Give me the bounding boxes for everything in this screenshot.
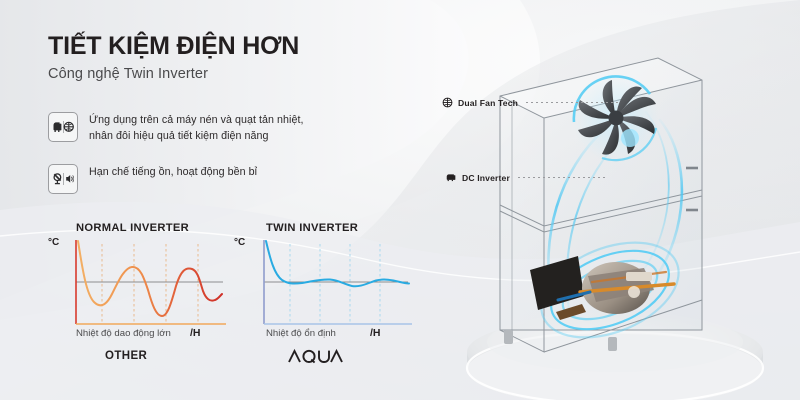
callout-dual-fan-tech[interactable]: Dual Fan Tech — [442, 97, 621, 108]
feature-item-low-noise: Hạn chế tiếng ồn, hoạt động bền bỉ — [48, 164, 257, 194]
chart-series-line — [78, 241, 222, 316]
chart-plot-area — [228, 236, 428, 336]
aqua-logo-mark — [288, 348, 344, 364]
callout-label: DC Inverter — [462, 173, 510, 183]
refrigerator-render — [430, 0, 800, 400]
page-subtitle: Công nghệ Twin Inverter — [48, 66, 208, 82]
feature-text-line-2: nhân đôi hiệu quả tiết kiệm điện năng — [89, 129, 303, 145]
fridge-foot — [608, 337, 617, 351]
fan-icon — [442, 97, 453, 108]
mic-muted-icon — [52, 171, 74, 187]
chart-plot-area — [48, 236, 248, 336]
banner-root: TIẾT KIỆM ĐIỆN HƠN Công nghệ Twin Invert… — [0, 0, 800, 400]
fridge-foot — [504, 330, 513, 344]
feature-icon-box — [48, 164, 78, 194]
aqua-brand-logo — [288, 348, 344, 364]
feature-item-compressor-fan: Ứng dụng trên cả máy nén và quạt tản nhi… — [48, 112, 303, 145]
compressor-icon — [446, 172, 457, 183]
chart-footer-label: OTHER — [105, 350, 147, 362]
chart-twin-inverter: TWIN INVERTER °C Nhiệt độ ổn định /H — [228, 222, 428, 382]
chart-title: NORMAL INVERTER — [76, 222, 189, 234]
chart-x-unit: /H — [190, 327, 201, 339]
callout-leader-line — [526, 102, 621, 103]
feature-icon-box — [48, 112, 78, 142]
product-illustration: Dual Fan Tech DC Inverter — [430, 0, 800, 400]
callout-dc-inverter[interactable]: DC Inverter — [446, 172, 606, 183]
chart-x-caption: Nhiệt độ dao động lớn — [76, 328, 171, 339]
page-title: TIẾT KIỆM ĐIỆN HƠN — [48, 32, 299, 61]
speaker-icon — [66, 175, 74, 183]
callout-label: Dual Fan Tech — [458, 98, 518, 108]
callout-leader-line — [518, 177, 606, 178]
feature-text: Hạn chế tiếng ồn, hoạt động bền bỉ — [89, 164, 257, 181]
chart-title: TWIN INVERTER — [266, 222, 358, 234]
chart-series-line — [266, 241, 409, 286]
feature-text-line-1: Hạn chế tiếng ồn, hoạt động bền bỉ — [89, 165, 257, 181]
chart-normal-inverter: NORMAL INVERTER °C Nhiệt độ — [48, 222, 248, 382]
dual-fan-assembly — [572, 74, 660, 162]
chart-x-unit: /H — [370, 327, 381, 339]
fan-icon — [64, 122, 73, 131]
feature-text: Ứng dụng trên cả máy nén và quạt tản nhi… — [89, 112, 303, 145]
feature-text-line-1: Ứng dụng trên cả máy nén và quạt tản nhi… — [89, 113, 303, 129]
compressor-icon — [52, 119, 74, 135]
chart-x-caption: Nhiệt độ ổn định — [266, 328, 336, 339]
